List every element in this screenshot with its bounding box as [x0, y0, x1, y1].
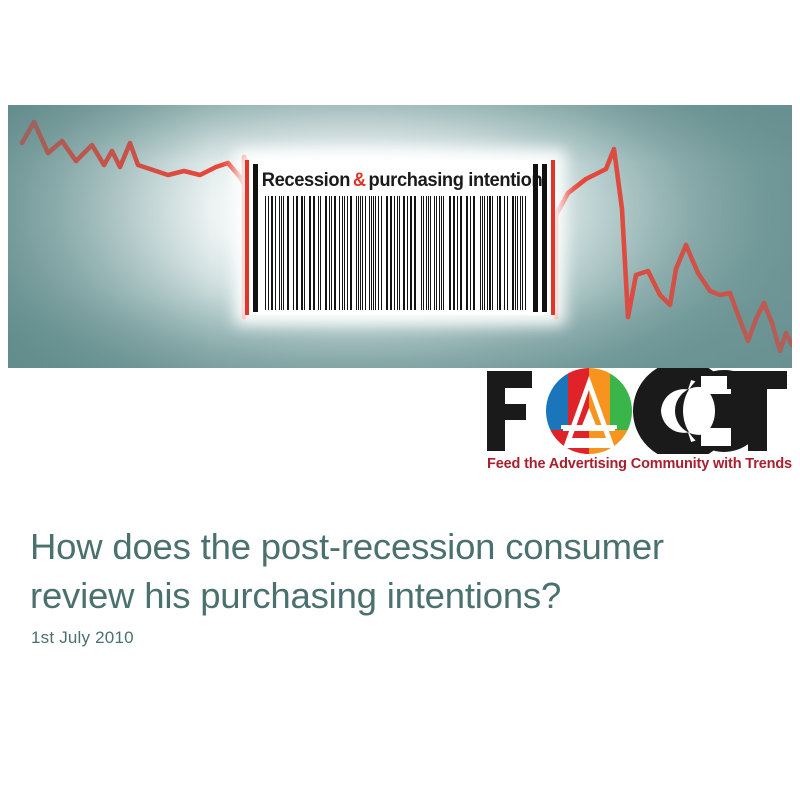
- fact-logo-letter-a: [546, 368, 632, 454]
- page-date: 1st July 2010: [31, 628, 134, 648]
- barcode-guard-bar-right: [533, 164, 538, 312]
- barcode-bar: [329, 196, 330, 310]
- barcode-bar: [515, 196, 516, 310]
- fact-logo-tagline: Feed the Advertising Community with Tren…: [487, 456, 787, 472]
- barcode-bar: [461, 196, 462, 310]
- barcode-bar: [302, 196, 303, 310]
- barcode-bar: [520, 196, 521, 310]
- decline-line-left: [22, 122, 260, 191]
- decline-line-right: [556, 149, 792, 351]
- barcode-bar: [421, 196, 422, 310]
- barcode-graphic: Recession & purchasing intention: [245, 160, 555, 315]
- barcode-bar: [397, 196, 398, 310]
- barcode-title-ampersand: &: [350, 169, 369, 192]
- fact-logo-letter-f: [487, 371, 532, 451]
- barcode-bar: [272, 196, 273, 310]
- barcode-right-red-rail: [551, 160, 555, 315]
- barcode-bar: [470, 196, 471, 310]
- barcode-bar: [439, 196, 440, 310]
- barcode-bar: [378, 196, 379, 310]
- barcode-bar: [356, 196, 357, 310]
- barcode-bar: [497, 196, 498, 310]
- barcode-bar: [387, 196, 388, 310]
- fact-logo-letters: [487, 368, 787, 454]
- barcode-bars: [265, 196, 529, 310]
- fact-logo: Feed the Advertising Community with Tren…: [487, 368, 787, 480]
- barcode-left-red-rail: [245, 160, 249, 315]
- barcode-bar: [482, 196, 483, 310]
- recession-banner-image: Recession & purchasing intention: [8, 105, 792, 368]
- page-title: How does the post-recession consumer rev…: [30, 523, 760, 620]
- barcode-bar: [339, 196, 340, 310]
- barcode-bar: [310, 196, 311, 310]
- barcode-title-after: purchasing intention: [369, 169, 543, 192]
- barcode-bar: [457, 196, 458, 310]
- barcode-bar: [281, 196, 282, 310]
- barcode-bar: [504, 196, 505, 310]
- barcode-bar: [293, 196, 294, 310]
- barcode-title: Recession & purchasing intention: [266, 166, 539, 194]
- barcode-bar: [411, 196, 412, 310]
- barcode-bar: [443, 196, 444, 310]
- barcode-bar: [265, 196, 266, 310]
- barcode-bar: [426, 196, 427, 310]
- barcode-guard-bar-edge: [542, 164, 547, 312]
- slide-canvas: Recession & purchasing intention: [0, 0, 800, 800]
- barcode-bar: [403, 196, 404, 310]
- barcode-bar: [490, 196, 491, 310]
- barcode-guard-bar-left: [253, 164, 258, 312]
- barcode-bar: [318, 196, 319, 310]
- barcode-title-before: Recession: [262, 169, 350, 192]
- barcode-bar: [342, 196, 343, 310]
- barcode-bar: [371, 196, 372, 310]
- barcode-bar: [360, 196, 361, 310]
